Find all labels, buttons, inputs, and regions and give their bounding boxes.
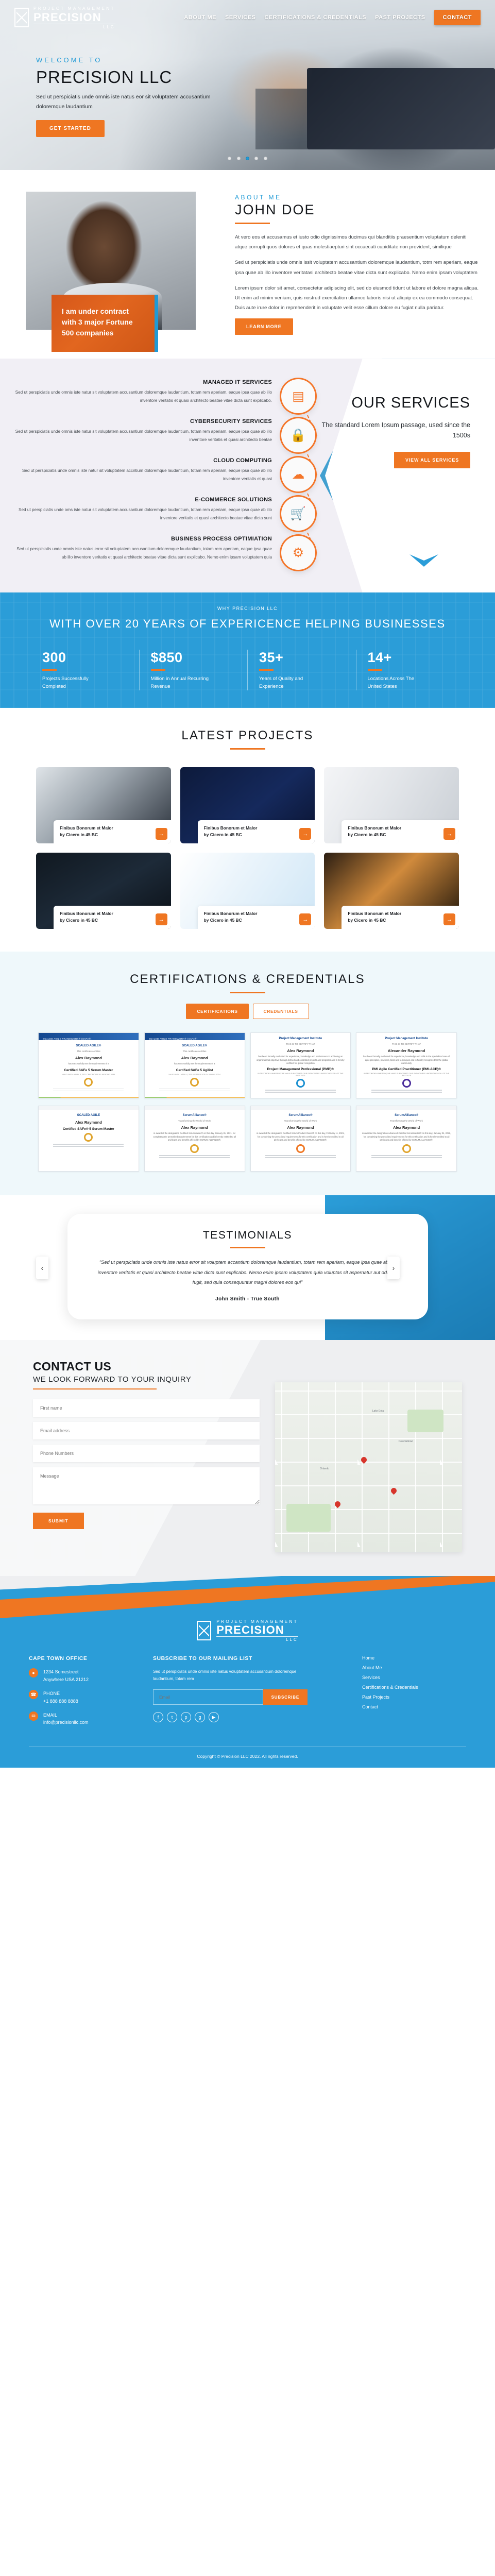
service-item[interactable]: CYBERSECURITY SERVICES Sed ut perspiciat… xyxy=(12,418,321,444)
certificate-footer-band xyxy=(39,1097,139,1098)
get-started-button[interactable]: GET STARTED xyxy=(36,120,105,137)
hero-kicker: WELCOME TO xyxy=(36,56,227,64)
services-list: MANAGED IT SERVICES Sed ut perspiciatis … xyxy=(12,379,321,575)
project-caption-line-2: by Cicero in 45 BC xyxy=(60,832,150,838)
service-item[interactable]: BUSINESS PROCESS OPTIMIATION Sed ut pers… xyxy=(12,536,321,562)
footer-phone: ☎ PHONE +1 888 888 8888 xyxy=(29,1690,140,1705)
map-label: Orlando xyxy=(320,1467,329,1470)
arrow-right-icon[interactable]: → xyxy=(443,828,455,840)
project-caption-line-2: by Cicero in 45 BC xyxy=(204,917,295,924)
services-section: MANAGED IT SERVICES Sed ut perspiciatis … xyxy=(0,359,495,592)
certificate-signature-lines xyxy=(53,1144,124,1147)
certificate-body-text: is awarded the designation Advanced Cert… xyxy=(361,1132,452,1142)
about-kicker: ABOUT ME xyxy=(235,194,480,201)
footer-subscribe-desc: Sed ut perspiciatis unde omnis iste natu… xyxy=(153,1668,308,1683)
stat-item: 300 Projects Successfully Completed xyxy=(31,650,139,690)
project-caption-line-2: by Cicero in 45 BC xyxy=(348,917,438,924)
certificate-band-text: SCALED AGILE FRAMEWORK® (SAFe®) xyxy=(145,1033,245,1040)
stat-value: 35+ xyxy=(259,650,356,666)
hero-section: PROJECT MANAGEMENT PRECISION LLC ABOUT M… xyxy=(0,0,495,170)
testimonial-prev-button[interactable]: ‹ xyxy=(36,1257,48,1279)
about-paragraph-3: Lorem ipsum dolor sit amet, consectetur … xyxy=(235,283,480,313)
service-desc: Sed ut perspiciatis unde omnis iste natu… xyxy=(12,388,321,405)
certifications-tabs: CERTIFICATIONS CREDENTIALS xyxy=(0,1004,495,1019)
certificate-header-band: SCALED AGILE FRAMEWORK® (SAFe®) xyxy=(39,1033,139,1040)
about-contract-badge: I am under contract with 3 major Fortune… xyxy=(52,295,155,352)
laptop-lock-icon: 🔒 xyxy=(281,418,315,452)
certificate-body-text: is awarded the designation Certified Scr… xyxy=(255,1132,346,1142)
nav-contact-button[interactable]: CONTACT xyxy=(434,10,481,25)
service-title: CLOUD COMPUTING xyxy=(12,457,321,464)
contact-subheading: WE LOOK FORWARD TO YOUR INQUIRY xyxy=(33,1375,260,1384)
certificate-issuer: SCALED AGILE® xyxy=(43,1044,134,1047)
certificate-header-band xyxy=(356,1106,456,1110)
project-caption: Finibus Bonorum et Malorby Cicero in 45 … xyxy=(54,906,171,929)
gear-laptop-icon: ⚙ xyxy=(281,536,315,570)
certificate-seal-icon xyxy=(190,1144,199,1153)
certificate-pretext: Transforming the World of Work xyxy=(361,1120,452,1122)
project-caption-line-1: Finibus Bonorum et Malor xyxy=(348,825,438,832)
footer-links-column: Home About Me Services Certifications & … xyxy=(362,1655,466,1733)
service-title: MANAGED IT SERVICES xyxy=(12,379,321,385)
stat-value: 14+ xyxy=(368,650,465,666)
footer-email-label: EMAIL xyxy=(43,1711,89,1719)
certificate-card[interactable]: Project Management InstituteTHIS IS TO C… xyxy=(250,1032,351,1098)
certificate-signature-lines xyxy=(265,1155,336,1158)
certifications-heading: CERTIFICATIONS & CREDENTIALS xyxy=(0,972,495,987)
stat-value: 300 xyxy=(42,650,139,666)
footer-link-past-projects[interactable]: Past Projects xyxy=(362,1694,466,1700)
certificate-header-band: SCALED AGILE FRAMEWORK® (SAFe®) xyxy=(145,1033,245,1040)
social-links: ftpg▶ xyxy=(153,1712,349,1722)
service-item[interactable]: CLOUD COMPUTING Sed ut perspiciatis unde… xyxy=(12,457,321,483)
certificate-body-text: has been formally evaluated for experien… xyxy=(255,1055,346,1065)
certifications-divider xyxy=(230,992,265,993)
certificate-card[interactable]: ScrumAlliance®Transforming the World of … xyxy=(356,1106,457,1172)
carousel-dot-2[interactable] xyxy=(237,157,241,160)
certificate-signature-lines xyxy=(53,1089,124,1092)
testimonials-heading: TESTIMONIALS xyxy=(97,1229,398,1242)
cloud-server-icon: ☁ xyxy=(281,457,315,492)
footer-phone-value[interactable]: +1 888 888 8888 xyxy=(43,1698,78,1705)
certificate-recipient: Alex Raymond xyxy=(255,1048,346,1053)
certificate-recipient: Alexander Raymond xyxy=(361,1048,452,1053)
projects-grid: Finibus Bonorum et Malorby Cicero in 45 … xyxy=(0,750,495,929)
chevron-down-icon xyxy=(409,554,438,568)
project-caption: Finibus Bonorum et Malorby Cicero in 45 … xyxy=(198,820,315,843)
certificate-seal-icon xyxy=(402,1079,411,1088)
certificate-recipient: Alex Raymond xyxy=(255,1125,346,1130)
hero-content: WELCOME TO PRECISION LLC Sed ut perspici… xyxy=(0,29,227,138)
certificate-header-band xyxy=(39,1106,139,1110)
project-caption: Finibus Bonorum et Malorby Cicero in 45 … xyxy=(342,906,459,929)
footer-email: ✉ EMAIL info@precisionllc.com xyxy=(29,1711,140,1726)
services-heading: OUR SERVICES xyxy=(321,395,470,411)
hero-carousel-dots[interactable] xyxy=(0,154,495,163)
pinterest-icon[interactable]: p xyxy=(181,1712,191,1722)
project-caption: Finibus Bonorum et Malorby Cicero in 45 … xyxy=(54,820,171,843)
certificate-seal-icon xyxy=(296,1144,305,1153)
certificate-pretext: Transforming the World of Work xyxy=(149,1120,240,1122)
projects-heading: LATEST PROJECTS xyxy=(0,728,495,743)
about-section: I am under contract with 3 major Fortune… xyxy=(0,170,495,359)
certificate-pretext: Transforming the World of Work xyxy=(255,1120,346,1122)
certificate-issuer: SCALED AGILE® xyxy=(149,1044,240,1047)
certificate-recipient: Alex Raymond xyxy=(43,1120,134,1125)
map-pin-icon[interactable] xyxy=(334,1500,342,1509)
projects-section: LATEST PROJECTS Finibus Bonorum et Malor… xyxy=(0,708,495,952)
footer-subscribe-title: SUBSCRIBE TO OUR MAILING LIST xyxy=(153,1655,349,1662)
footer-link-certifications[interactable]: Certifications & Credentials xyxy=(362,1685,466,1690)
map-pin-icon[interactable] xyxy=(360,1456,368,1464)
logo-tagline: PROJECT MANAGEMENT xyxy=(33,6,115,11)
hero-description: Sed ut perspiciatis unde omnis iste natu… xyxy=(36,92,215,112)
certificate-seal-icon xyxy=(84,1133,93,1142)
subscribe-email-input[interactable] xyxy=(153,1689,263,1705)
project-card[interactable]: Finibus Bonorum et Malorby Cicero in 45 … xyxy=(180,853,315,929)
certificate-title: PMI Agile Certified Practitioner (PMI-AC… xyxy=(361,1067,452,1071)
testimonial-card: TESTIMONIALS "Sed ut perspiciatis unde o… xyxy=(67,1214,428,1319)
footer-link-about-me[interactable]: About Me xyxy=(362,1665,466,1670)
certificate-body-text: has been formally evaluated for experien… xyxy=(361,1055,452,1065)
about-divider xyxy=(235,223,270,224)
arrow-right-icon[interactable]: → xyxy=(156,828,167,840)
hero-title: PRECISION LLC xyxy=(36,67,227,87)
project-caption-line-1: Finibus Bonorum et Malor xyxy=(60,910,150,917)
testimonials-section: ‹ › TESTIMONIALS "Sed ut perspiciatis un… xyxy=(0,1195,495,1340)
logo-mark-icon xyxy=(14,8,29,27)
footer-email-value[interactable]: info@precisionllc.com xyxy=(43,1719,89,1726)
certificate-meta: IN TESTIMONY WHEREOF, WE HAVE SUBSCRIBED… xyxy=(255,1073,346,1077)
service-desc: Sed ut perspiciatis unde omnis iste natu… xyxy=(12,428,321,444)
stat-divider xyxy=(259,669,274,671)
stat-label: Projects Successfully Completed xyxy=(42,675,104,690)
project-card[interactable]: Finibus Bonorum et Malorby Cicero in 45 … xyxy=(324,853,459,929)
certificate-issuer: Project Management Institute xyxy=(361,1037,452,1040)
footer-link-services[interactable]: Services xyxy=(362,1675,466,1680)
footer-office-column: CAPE TOWN OFFICE ● 1234 Somestreet Anywh… xyxy=(29,1655,140,1733)
services-intro: OUR SERVICES The standard Lorem Ipsum pa… xyxy=(321,379,483,575)
project-card[interactable]: Finibus Bonorum et Malorby Cicero in 45 … xyxy=(324,767,459,843)
map-label: Lake Eola xyxy=(372,1410,384,1413)
footer-address-line-1: 1234 Somestreet xyxy=(43,1668,89,1675)
shopping-cart-icon: 🛒 xyxy=(281,497,315,531)
project-caption: Finibus Bonorum et Malorby Cicero in 45 … xyxy=(198,906,315,929)
footer-link-home[interactable]: Home xyxy=(362,1655,466,1660)
contact-heading: CONTACT US xyxy=(33,1360,260,1374)
nav-item-certifications[interactable]: CERTIFICATIONS & CREDENTIALS xyxy=(264,14,366,21)
project-caption-line-2: by Cicero in 45 BC xyxy=(348,832,438,838)
certificate-issuer: Project Management Institute xyxy=(255,1037,346,1040)
project-caption-line-1: Finibus Bonorum et Malor xyxy=(60,825,150,832)
certificate-pretext: This certificate certifies xyxy=(149,1050,240,1053)
tab-credentials[interactable]: CREDENTIALS xyxy=(253,1004,309,1019)
certificate-card[interactable]: SCALED AGILE FRAMEWORK® (SAFe®)SCALED AG… xyxy=(144,1032,245,1098)
certificate-signature-lines xyxy=(159,1089,230,1092)
certificate-band-text: SCALED AGILE FRAMEWORK® (SAFe®) xyxy=(39,1033,139,1040)
stats-section: WHY PRECISION LLC WITH OVER 20 YEARS OF … xyxy=(0,592,495,708)
logo-wordmark: PRECISION xyxy=(33,12,115,23)
submit-button[interactable]: SUBMIT xyxy=(33,1513,84,1529)
certificate-issuer: ScrumAlliance® xyxy=(361,1114,452,1117)
certificate-seal-icon xyxy=(296,1079,305,1088)
contact-section: CONTACT US WE LOOK FORWARD TO YOUR INQUI… xyxy=(0,1340,495,1576)
about-media: I am under contract with 3 major Fortune… xyxy=(15,192,221,335)
certificate-title: Certified SAFe 5 Scrum Master xyxy=(43,1069,134,1072)
certificate-header-band xyxy=(145,1106,245,1110)
nav-item-past-projects[interactable]: PAST PROJECTS xyxy=(375,14,425,21)
stats-kicker: WHY PRECISION LLC xyxy=(0,606,495,611)
certificate-title: Certified SAFe® 5 Scrum Master xyxy=(43,1127,134,1131)
certificate-issuer: ScrumAlliance® xyxy=(255,1114,346,1117)
service-desc: Sed ut perspiciatis unde omnis iste natu… xyxy=(12,545,321,562)
footer-link-contact[interactable]: Contact xyxy=(362,1704,466,1709)
certificate-seal-icon xyxy=(402,1144,411,1153)
certificate-recipient: Alex Raymond xyxy=(149,1125,240,1130)
stat-divider xyxy=(368,669,382,671)
map-pin-icon[interactable] xyxy=(390,1486,398,1495)
certificate-card[interactable]: SCALED AGILE FRAMEWORK® (SAFe®)SCALED AG… xyxy=(38,1032,139,1098)
envelope-icon: ✉ xyxy=(29,1711,38,1721)
about-paragraph-1: At vero eos et accusamus et iusto odio d… xyxy=(235,232,480,252)
stat-item: 35+ Years of Quality and Experience xyxy=(247,650,356,690)
certificate-signature-lines xyxy=(265,1090,336,1093)
about-paragraph-2: Sed ut perspiciatis unde omnis issit vol… xyxy=(235,258,480,277)
page-root: PROJECT MANAGEMENT PRECISION LLC ABOUT M… xyxy=(0,0,495,1768)
certificate-title: Certified SAFe 5 Agilist xyxy=(149,1069,240,1072)
phone-input[interactable] xyxy=(33,1445,260,1462)
footer-logo-suffix: LLC xyxy=(216,1636,298,1642)
service-title: CYBERSECURITY SERVICES xyxy=(12,418,321,425)
google-plus-icon[interactable]: g xyxy=(195,1712,205,1722)
project-caption-line-1: Finibus Bonorum et Malor xyxy=(204,825,295,832)
footer-subscribe-column: SUBSCRIBE TO OUR MAILING LIST Sed ut per… xyxy=(153,1655,349,1733)
service-item[interactable]: E-COMMERCE SOLUTIONS Sed ut perspiciatis… xyxy=(12,497,321,522)
stat-divider xyxy=(42,669,57,671)
arrow-right-icon[interactable]: → xyxy=(443,913,455,925)
footer-address: ● 1234 Somestreet Anywhere USA 21212 xyxy=(29,1668,140,1683)
certificate-recipient: Alex Raymond xyxy=(361,1125,452,1130)
certificate-footer-band xyxy=(145,1097,245,1098)
certificate-signature-lines xyxy=(371,1155,442,1158)
service-desc: Sed ut perspiciatis unde oms iste natur … xyxy=(12,506,321,522)
logo-suffix: LLC xyxy=(33,24,115,29)
certificate-signature-lines xyxy=(159,1155,230,1158)
testimonial-quote: "Sed ut perspiciatis unde omnis iste nat… xyxy=(97,1258,398,1288)
stat-item: $850 Million in Annual Recurring Revenue xyxy=(139,650,248,690)
site-logo[interactable]: PROJECT MANAGEMENT PRECISION LLC xyxy=(14,6,115,29)
site-header: PROJECT MANAGEMENT PRECISION LLC ABOUT M… xyxy=(0,0,495,29)
arrow-right-icon[interactable]: → xyxy=(299,913,311,925)
map-park-area xyxy=(286,1504,331,1532)
services-tagline: The standard Lorem Ipsum passage, used s… xyxy=(321,420,470,441)
service-title: BUSINESS PROCESS OPTIMIATION xyxy=(12,536,321,542)
location-pin-icon: ● xyxy=(29,1668,38,1677)
facebook-icon[interactable]: f xyxy=(153,1712,163,1722)
certificate-issuer: SCALED AGILE xyxy=(43,1114,134,1117)
certificate-meta: VALID UNTIL: APRIL 3, 2021 CERTIFICATE I… xyxy=(43,1074,134,1076)
stat-label: Locations Across The United States xyxy=(368,675,430,690)
contact-form-panel: CONTACT US WE LOOK FORWARD TO YOUR INQUI… xyxy=(33,1360,260,1552)
certificate-meta: VALID UNTIL: APRIL 4, 2021 CERTIFICATE I… xyxy=(149,1074,240,1076)
project-card[interactable]: Finibus Bonorum et Malorby Cicero in 45 … xyxy=(36,767,171,843)
learn-more-button[interactable]: LEARN MORE xyxy=(235,318,293,335)
project-caption: Finibus Bonorum et Malorby Cicero in 45 … xyxy=(342,820,459,843)
service-title: E-COMMERCE SOLUTIONS xyxy=(12,497,321,503)
footer-office-title: CAPE TOWN OFFICE xyxy=(29,1655,140,1662)
stat-item: 14+ Locations Across The United States xyxy=(356,650,465,690)
project-caption-line-2: by Cicero in 45 BC xyxy=(204,832,295,838)
carousel-dot-1[interactable] xyxy=(228,157,231,160)
email-input[interactable] xyxy=(33,1422,260,1439)
main-nav: ABOUT ME SERVICES CERTIFICATIONS & CREDE… xyxy=(184,10,481,25)
certificate-header-band xyxy=(251,1106,351,1110)
certificate-signature-lines xyxy=(371,1090,442,1093)
certificate-recipient: Alex Raymond xyxy=(149,1056,240,1060)
footer-address-line-2: Anywhere USA 21212 xyxy=(43,1676,89,1683)
project-caption-line-1: Finibus Bonorum et Malor xyxy=(348,910,438,917)
carousel-dot-4[interactable] xyxy=(254,157,258,160)
arrow-right-icon[interactable]: → xyxy=(156,913,167,925)
project-card[interactable]: Finibus Bonorum et Malorby Cicero in 45 … xyxy=(36,853,171,929)
certificate-issuer: ScrumAlliance® xyxy=(149,1114,240,1117)
footer-copyright: Copyright © Precision LLC 2022. All righ… xyxy=(29,1747,466,1768)
carousel-dot-3-active[interactable] xyxy=(246,157,249,160)
carousel-dot-5[interactable] xyxy=(264,157,267,160)
stat-divider xyxy=(151,669,165,671)
stats-title: WITH OVER 20 YEARS OF EXPERICENCE HELPIN… xyxy=(0,616,495,632)
testimonials-divider xyxy=(230,1247,265,1248)
youtube-icon[interactable]: ▶ xyxy=(209,1712,219,1722)
certificate-meta: IN TESTIMONY WHEREOF, WE HAVE SUBSCRIBED… xyxy=(361,1073,452,1077)
stat-label: Years of Quality and Experience xyxy=(259,675,321,690)
stat-label: Million in Annual Recurring Revenue xyxy=(151,675,213,690)
testimonial-author: John Smith - True South xyxy=(97,1296,398,1302)
footer-logo-tagline: PROJECT MANAGEMENT xyxy=(216,1619,298,1624)
twitter-icon[interactable]: t xyxy=(167,1712,177,1722)
certificate-seal-icon xyxy=(190,1078,199,1087)
certificate-card[interactable]: ScrumAlliance®Transforming the World of … xyxy=(250,1106,351,1172)
project-caption-line-1: Finibus Bonorum et Malor xyxy=(204,910,295,917)
certifications-section: CERTIFICATIONS & CREDENTIALS CERTIFICATI… xyxy=(0,952,495,1195)
logo-mark-icon xyxy=(197,1621,211,1640)
view-all-services-button[interactable]: VIEW ALL SERVICES xyxy=(394,452,470,468)
location-map[interactable]: Lake Eola Orlando Colonialtown xyxy=(275,1382,462,1552)
certificates-grid: SCALED AGILE FRAMEWORK® (SAFe®)SCALED AG… xyxy=(0,1019,495,1172)
certificate-title: Project Management Professional (PMP)® xyxy=(255,1067,346,1071)
project-caption-line-2: by Cicero in 45 BC xyxy=(60,917,150,924)
certificate-card[interactable]: ScrumAlliance®Transforming the World of … xyxy=(144,1106,245,1172)
footer-phone-label: PHONE xyxy=(43,1690,78,1697)
tablet-hand-icon: ▤ xyxy=(281,379,315,413)
about-title: JOHN DOE xyxy=(235,202,480,218)
footer-logo-wordmark: PRECISION xyxy=(216,1624,298,1636)
certificate-pretext: This certificate certifies xyxy=(43,1050,134,1053)
subscribe-button[interactable]: SUBSCRIBE xyxy=(263,1689,308,1705)
stat-value: $850 xyxy=(151,650,248,666)
map-park-area xyxy=(407,1410,443,1432)
certificate-pretext: THIS IS TO CERTIFY THAT xyxy=(361,1043,452,1045)
service-desc: Sed ut perspiciatis unde omnis iste natu… xyxy=(12,467,321,483)
site-footer: PROJECT MANAGEMENT PRECISION LLC CAPE TO… xyxy=(0,1576,495,1768)
project-card[interactable]: Finibus Bonorum et Malorby Cicero in 45 … xyxy=(180,767,315,843)
certificate-pretext: THIS IS TO CERTIFY THAT xyxy=(255,1043,346,1045)
certificate-card[interactable]: Project Management InstituteTHIS IS TO C… xyxy=(356,1032,457,1098)
testimonial-next-button[interactable]: › xyxy=(387,1257,400,1279)
certificate-body-text: has successfully met the requirements of… xyxy=(43,1062,134,1065)
about-content: ABOUT ME JOHN DOE At vero eos et accusam… xyxy=(235,192,480,335)
phone-icon: ☎ xyxy=(29,1690,38,1699)
tab-certifications[interactable]: CERTIFICATIONS xyxy=(186,1004,248,1019)
certificate-seal-icon xyxy=(84,1078,93,1087)
certificate-body-text: is awarded the designation Certified Scr… xyxy=(149,1132,240,1142)
certificate-recipient: Alex Raymond xyxy=(43,1056,134,1060)
map-label: Colonialtown xyxy=(399,1440,414,1443)
certificate-card[interactable]: SCALED AGILEAlex RaymondCertified SAFe® … xyxy=(38,1106,139,1172)
message-textarea[interactable] xyxy=(33,1467,260,1504)
first-name-input[interactable] xyxy=(33,1399,260,1417)
arrow-right-icon[interactable]: → xyxy=(299,828,311,840)
nav-item-services[interactable]: SERVICES xyxy=(225,14,255,21)
footer-logo[interactable]: PROJECT MANAGEMENT PRECISION LLC xyxy=(0,1616,495,1656)
certificate-body-text: has successfully met the requirements of… xyxy=(149,1062,240,1065)
contact-divider xyxy=(33,1388,157,1389)
service-item[interactable]: MANAGED IT SERVICES Sed ut perspiciatis … xyxy=(12,379,321,405)
nav-item-about-me[interactable]: ABOUT ME xyxy=(184,14,216,21)
